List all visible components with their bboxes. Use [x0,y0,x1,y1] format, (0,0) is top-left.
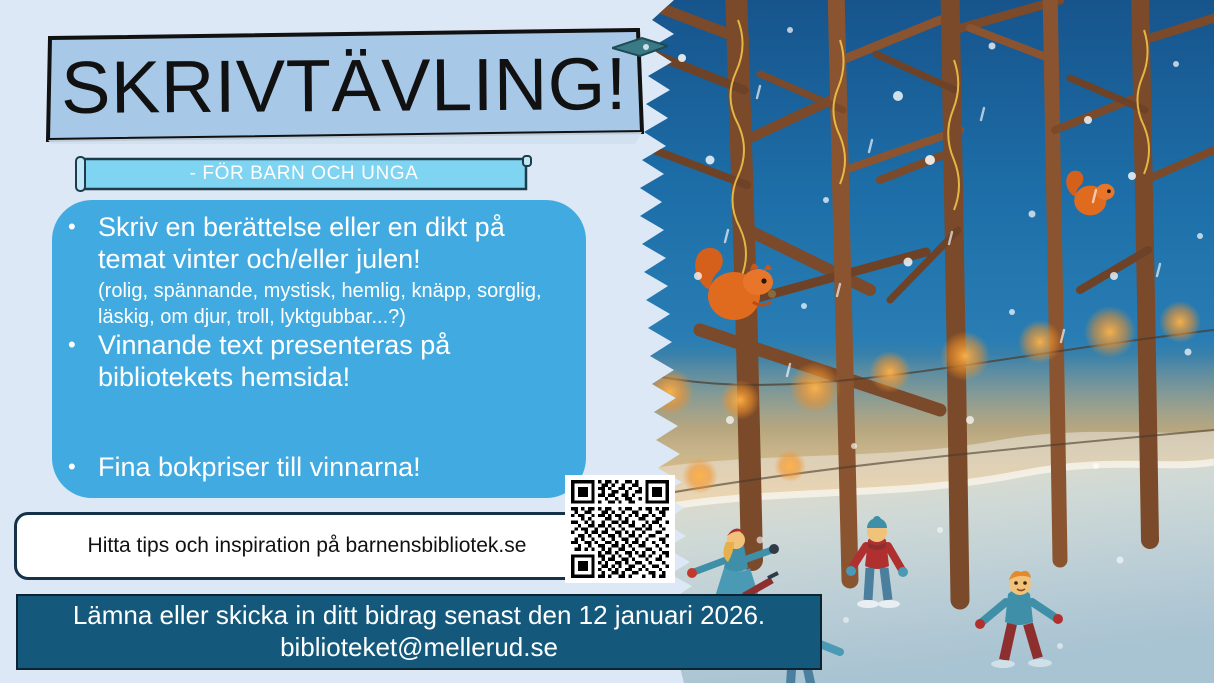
bullet-list: • Skriv en berättelse eller en dikt på t… [52,200,586,498]
bullet-main-text: Fina bokpriser till vinnarna! [98,452,421,484]
page-title: SKRIVTÄVLING! [44,26,645,146]
winter-illustration [640,0,1214,683]
bullet-marker: • [68,452,98,478]
bullet-marker: • [68,330,98,356]
bullet-body: Vinnande text presenteras på biblioteket… [98,330,578,394]
bullet-main-text: Skriv en berättelse eller en dikt på tem… [98,212,578,276]
subtitle-ribbon: - FÖR BARN OCH UNGA [74,155,534,193]
footer-deadline-text: Lämna eller skicka in ditt bidrag senast… [73,600,765,632]
info-box: Hitta tips och inspiration på barnensbib… [14,512,600,580]
content-box: • Skriv en berättelse eller en dikt på t… [52,200,586,498]
list-item: • Vinnande text presenteras på bibliotek… [68,330,578,394]
poster-canvas: SKRIVTÄVLING! - FÖR BARN OCH UNGA • Skri… [0,0,1214,683]
bullet-body: Skriv en berättelse eller en dikt på tem… [98,212,578,330]
list-item: • Fina bokpriser till vinnarna! [68,452,578,484]
footer-banner: Lämna eller skicka in ditt bidrag senast… [16,594,822,670]
bullet-marker: • [68,212,98,238]
qr-code[interactable] [565,475,675,583]
footer-email-text: biblioteket@mellerud.se [280,632,558,664]
info-box-text: Hitta tips och inspiration på barnensbib… [88,534,527,558]
subtitle-text: - FÖR BARN OCH UNGA [74,155,534,193]
title-banner: SKRIVTÄVLING! [44,28,644,144]
bullet-body: Fina bokpriser till vinnarna! [98,452,421,484]
bullet-sub-text: (rolig, spännande, mystisk, hemlig, knäp… [98,278,578,330]
list-item: • Skriv en berättelse eller en dikt på t… [68,212,578,330]
ribbon-flag-icon [612,36,668,62]
bullet-main-text: Vinnande text presenteras på biblioteket… [98,330,578,394]
